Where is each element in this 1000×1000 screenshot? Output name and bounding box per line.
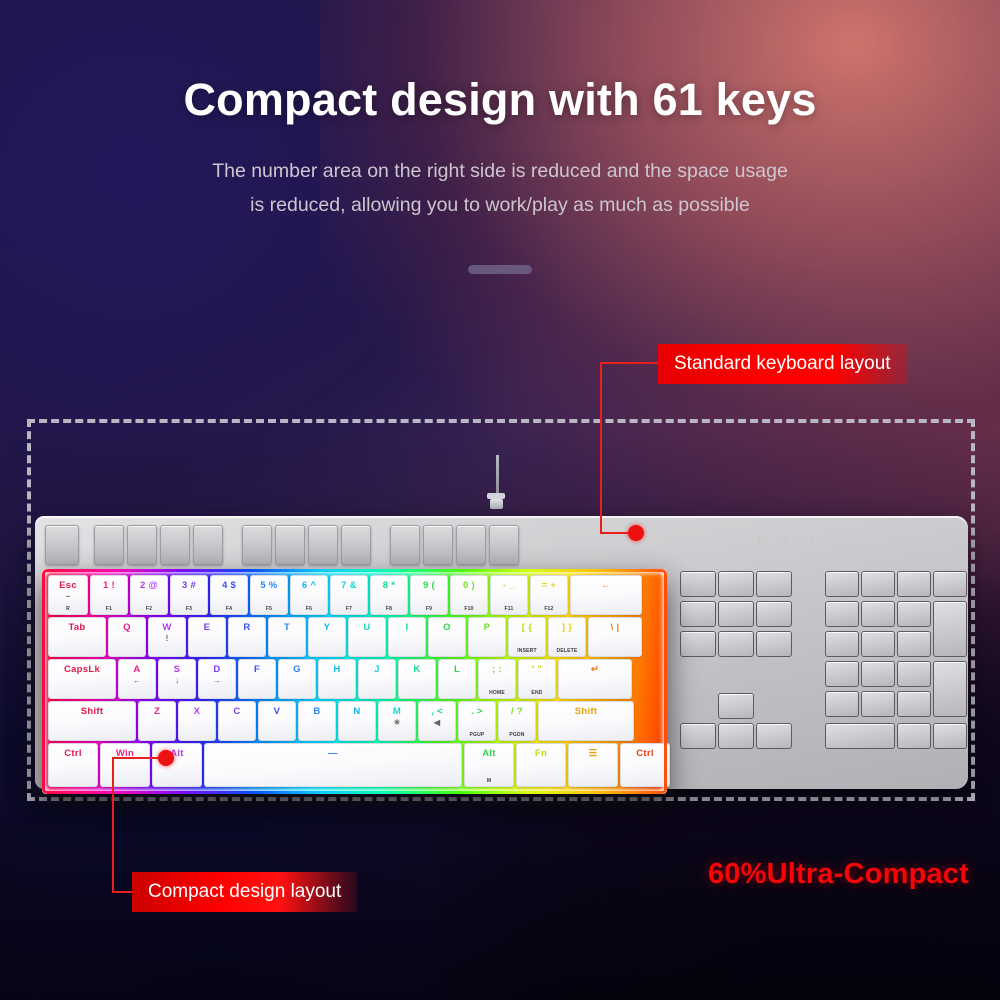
corner-tag-ultra-compact: 60%Ultra-Compact <box>708 858 969 891</box>
key-Alt[interactable]: Alt <box>152 743 202 787</box>
key-primary-legend: [ { <box>522 622 532 633</box>
key-primary-legend: 0 ) <box>463 580 475 591</box>
key-X[interactable]: X <box>178 701 216 741</box>
full-keyboard-numpad-key <box>933 661 967 717</box>
key-sub-legend: PGDN <box>509 732 524 738</box>
full-keyboard-nav-key <box>756 571 792 597</box>
key-Shift[interactable]: Shift <box>538 701 634 741</box>
key-primary-legend: Ctrl <box>64 748 82 759</box>
key-primary-legend: H <box>333 664 340 675</box>
key-secondary-legend: ↓ <box>175 676 179 686</box>
key-T[interactable]: T <box>268 617 306 657</box>
leader-line-top-h1 <box>600 362 660 364</box>
key-primary-legend: U <box>363 622 370 633</box>
full-keyboard-nav-key <box>680 601 716 627</box>
full-keyboard-numpad-key <box>825 571 859 597</box>
full-keyboard-numpad-key <box>825 631 859 657</box>
full-keyboard-fkey <box>160 525 190 565</box>
compact-60-keyboard: Esc~R1 !F12 @F23 #F34 $F45 %F56 ^F67 &F7… <box>42 569 667 794</box>
leader-line-top-v <box>600 362 602 534</box>
key-Ctrl[interactable]: Ctrl <box>620 743 670 787</box>
full-keyboard-numpad-key <box>861 661 895 687</box>
full-keyboard-nav-key <box>718 723 754 749</box>
key-primary-legend: 6 ^ <box>302 580 316 591</box>
full-keyboard-led-indicators <box>758 536 878 552</box>
key-U[interactable]: U <box>348 617 386 657</box>
key-R[interactable]: R <box>228 617 266 657</box>
key-A[interactable]: A← <box>118 659 156 699</box>
page-title: Compact design with 61 keys <box>0 74 1000 126</box>
key-[interactable]: ; :HOME <box>478 659 516 699</box>
full-keyboard-fkey <box>341 525 371 565</box>
full-keyboard-nav-key <box>718 631 754 657</box>
key-primary-legend: 4 $ <box>222 580 236 591</box>
key-sub-legend: F5 <box>266 606 272 612</box>
key-primary-legend: 5 % <box>260 580 277 591</box>
key-L[interactable]: L <box>438 659 476 699</box>
callout-dot-standard-layout[interactable] <box>628 525 644 541</box>
full-keyboard-numpad-key <box>825 723 895 749</box>
key-W[interactable]: W! <box>148 617 186 657</box>
key-sub-legend: INSERT <box>517 648 537 654</box>
key-Tab[interactable]: Tab <box>48 617 106 657</box>
full-keyboard-fkey <box>193 525 223 565</box>
key-primary-legend: L <box>454 664 460 675</box>
full-keyboard-fkey <box>489 525 519 565</box>
key-secondary-legend: → <box>213 676 221 686</box>
key-[interactable]: , <◀ <box>418 701 456 741</box>
full-keyboard-led <box>836 536 839 549</box>
key-[interactable]: ☰ <box>568 743 618 787</box>
key-primary-legend: C <box>233 706 240 717</box>
key-primary-legend: J <box>374 664 380 675</box>
full-keyboard-nav-key <box>680 571 716 597</box>
key-primary-legend: ] } <box>562 622 572 633</box>
key-primary-legend: ↵ <box>591 664 599 675</box>
key-sub-legend: F8 <box>386 606 392 612</box>
key-primary-legend: Y <box>324 622 331 633</box>
callout-standard-keyboard-layout[interactable]: Standard keyboard layout <box>658 344 907 384</box>
key-primary-legend: G <box>293 664 301 675</box>
key-primary-legend: Shift <box>575 706 598 717</box>
full-keyboard-fkey <box>275 525 305 565</box>
key-primary-legend: E <box>204 622 211 633</box>
key-C[interactable]: C <box>218 701 256 741</box>
page-subtitle: The number area on the right side is red… <box>0 154 1000 222</box>
key-primary-legend: F <box>254 664 260 675</box>
key-primary-legend: 9 ( <box>423 580 435 591</box>
full-keyboard-led <box>810 536 813 549</box>
usb-cable <box>494 455 501 507</box>
full-keyboard-numpad-key <box>933 571 967 597</box>
key-[interactable]: ' "END <box>518 659 556 699</box>
key-primary-legend: Fn <box>535 748 547 759</box>
full-keyboard-function-row <box>45 525 665 567</box>
key-primary-legend: V <box>274 706 281 717</box>
section-divider-pill <box>468 265 532 274</box>
key-5[interactable]: 5 %F5 <box>250 575 288 615</box>
key-[interactable]: / ?PGDN <box>498 701 536 741</box>
key-[interactable]: ↵ <box>558 659 632 699</box>
key-O[interactable]: O <box>428 617 466 657</box>
key-sub-legend: HOME <box>489 690 505 696</box>
full-keyboard-numpad-key <box>897 571 931 597</box>
full-keyboard-led <box>784 536 787 549</box>
key-primary-legend: Ctrl <box>636 748 654 759</box>
key-sub-legend: F1 <box>106 606 112 612</box>
key-primary-legend: ; : <box>492 664 502 675</box>
full-keyboard-numpad-key <box>897 601 931 627</box>
key-4[interactable]: 4 $F4 <box>210 575 248 615</box>
key-M[interactable]: M☀ <box>378 701 416 741</box>
key-sub-legend: M <box>487 778 491 784</box>
callout-compact-design-layout[interactable]: Compact design layout <box>132 872 357 912</box>
key-secondary-legend: ! <box>166 634 169 644</box>
key-primary-legend: S <box>174 664 181 675</box>
key-[interactable]: - _F11 <box>490 575 528 615</box>
full-keyboard-numpad-key <box>825 661 859 687</box>
keyboard-row-3: ShiftZXCVBNM☀, <◀. >PGUP/ ?PGDNShift <box>48 701 661 741</box>
key-primary-legend: M <box>393 706 401 717</box>
full-keyboard-nav-key <box>718 571 754 597</box>
key-primary-legend: , < <box>431 706 443 717</box>
key-primary-legend: Tab <box>68 622 85 633</box>
key-J[interactable]: J <box>358 659 396 699</box>
key-P[interactable]: P <box>468 617 506 657</box>
key-primary-legend: \ | <box>611 622 620 633</box>
key-Y[interactable]: Y <box>308 617 346 657</box>
key-0[interactable]: 0 )F10 <box>450 575 488 615</box>
full-keyboard-numpad-key <box>861 601 895 627</box>
key-primary-legend: Esc <box>59 580 77 591</box>
key-Alt[interactable]: AltM <box>464 743 514 787</box>
full-keyboard-numpad-key <box>861 691 895 717</box>
key-secondary-legend: ~ <box>66 592 71 602</box>
key-secondary-legend: ◀ <box>434 718 440 728</box>
key-8[interactable]: 8 *F8 <box>370 575 408 615</box>
full-keyboard-fkey <box>308 525 338 565</box>
key-CapsLk[interactable]: CapsLk <box>48 659 116 699</box>
key-sub-legend: DELETE <box>557 648 578 654</box>
key-primary-legend: R <box>243 622 250 633</box>
key-I[interactable]: I <box>388 617 426 657</box>
full-keyboard-fkey <box>127 525 157 565</box>
key-primary-legend: CapsLk <box>64 664 100 675</box>
key-N[interactable]: N <box>338 701 376 741</box>
key-primary-legend: ' " <box>532 664 542 675</box>
keyboard-row-1: TabQW!ERTYUIOP[ {INSERT] }DELETE\ | <box>48 617 661 657</box>
key-B[interactable]: B <box>298 701 336 741</box>
key-primary-legend: — <box>328 748 338 759</box>
full-keyboard-fkey <box>390 525 420 565</box>
key-sub-legend: F7 <box>346 606 352 612</box>
full-keyboard-nav-cluster <box>680 571 810 786</box>
key-primary-legend: 8 * <box>383 580 396 591</box>
full-keyboard-nav-key <box>756 601 792 627</box>
key-primary-legend: A <box>133 664 140 675</box>
key-primary-legend: ☰ <box>589 748 598 759</box>
key-primary-legend: X <box>194 706 201 717</box>
key-[interactable]: . >PGUP <box>458 701 496 741</box>
key-[interactable]: = +F12 <box>530 575 568 615</box>
key-primary-legend: N <box>353 706 360 717</box>
key-primary-legend: 7 & <box>341 580 357 591</box>
key-primary-legend: Shift <box>81 706 104 717</box>
key-primary-legend: T <box>284 622 290 633</box>
full-keyboard-numpad-key <box>933 601 967 657</box>
key-[interactable]: \ | <box>588 617 642 657</box>
key-Shift[interactable]: Shift <box>48 701 136 741</box>
key-Z[interactable]: Z <box>138 701 176 741</box>
key-Win[interactable]: Win <box>100 743 150 787</box>
key-primary-legend: ← <box>601 580 611 591</box>
key-H[interactable]: H <box>318 659 356 699</box>
key-[interactable]: ] }DELETE <box>548 617 586 657</box>
keyboard-row-2: CapsLkA←S↓D→FGHJKL; :HOME' "END↵ <box>48 659 661 699</box>
key-primary-legend: 1 ! <box>103 580 115 591</box>
key-Q[interactable]: Q <box>108 617 146 657</box>
key-sub-legend: F10 <box>464 606 473 612</box>
cable-plug-lower <box>490 499 503 509</box>
key-primary-legend: W <box>162 622 171 633</box>
full-keyboard-fkey <box>456 525 486 565</box>
full-keyboard-numpad-key <box>825 691 859 717</box>
key-secondary-legend: ☀ <box>393 718 400 728</box>
full-keyboard-numpad-key <box>861 631 895 657</box>
full-keyboard-numpad-key <box>897 631 931 657</box>
key-V[interactable]: V <box>258 701 296 741</box>
full-keyboard-nav-key <box>756 723 792 749</box>
keyboard-row-4: CtrlWinAlt—AltMFn☰Ctrl <box>48 743 661 787</box>
full-keyboard-numpad-key <box>897 691 931 717</box>
key-E[interactable]: E <box>188 617 226 657</box>
key-primary-legend: K <box>413 664 420 675</box>
header-block: Compact design with 61 keys The number a… <box>0 74 1000 222</box>
key-primary-legend: D <box>213 664 220 675</box>
key-sub-legend: F9 <box>426 606 432 612</box>
key-sub-legend: R <box>66 606 70 612</box>
key-9[interactable]: 9 (F9 <box>410 575 448 615</box>
full-keyboard-numpad-key <box>897 723 931 749</box>
key-F[interactable]: F <box>238 659 276 699</box>
key-Ctrl[interactable]: Ctrl <box>48 743 98 787</box>
full-keyboard-numpad-key <box>933 723 967 749</box>
full-keyboard-numpad-key <box>825 601 859 627</box>
key-primary-legend: 3 # <box>182 580 196 591</box>
key-primary-legend: Q <box>123 622 131 633</box>
full-keyboard-fkey <box>45 525 79 565</box>
key-Esc[interactable]: Esc~R <box>48 575 88 615</box>
full-keyboard-numpad-key <box>861 571 895 597</box>
key-[interactable]: ← <box>570 575 642 615</box>
key-sub-legend: PGUP <box>470 732 485 738</box>
subtitle-line-2: is reduced, allowing you to work/play as… <box>0 188 1000 222</box>
full-keyboard-fkey <box>423 525 453 565</box>
key-7[interactable]: 7 &F7 <box>330 575 368 615</box>
key-sub-legend: F6 <box>306 606 312 612</box>
key-primary-legend: . > <box>471 706 483 717</box>
full-keyboard-nav-key <box>718 601 754 627</box>
key-[interactable]: [ {INSERT <box>508 617 546 657</box>
key-primary-legend: Alt <box>482 748 496 759</box>
full-keyboard-numpad-key <box>897 661 931 687</box>
key-sub-legend: F11 <box>505 606 514 612</box>
key-D[interactable]: D→ <box>198 659 236 699</box>
key-3[interactable]: 3 #F3 <box>170 575 208 615</box>
full-keyboard-fkey <box>242 525 272 565</box>
full-keyboard-led <box>758 536 761 549</box>
key-primary-legend: I <box>406 622 409 633</box>
callout-dot-compact-layout[interactable] <box>158 750 174 766</box>
key-sub-legend: F2 <box>146 606 152 612</box>
cable-wire <box>496 455 499 497</box>
keyboard-row-0: Esc~R1 !F12 @F23 #F34 $F45 %F56 ^F67 &F7… <box>48 575 661 615</box>
key-[interactable]: — <box>204 743 462 787</box>
key-sub-legend: F4 <box>226 606 232 612</box>
key-primary-legend: 2 @ <box>140 580 158 591</box>
leader-line-bottom-v <box>112 757 114 893</box>
full-keyboard-fkey <box>94 525 124 565</box>
key-sub-legend: END <box>531 690 542 696</box>
key-S[interactable]: S↓ <box>158 659 196 699</box>
key-primary-legend: O <box>443 622 451 633</box>
key-1[interactable]: 1 !F1 <box>90 575 128 615</box>
key-2[interactable]: 2 @F2 <box>130 575 168 615</box>
key-sub-legend: F12 <box>544 606 553 612</box>
key-6[interactable]: 6 ^F6 <box>290 575 328 615</box>
key-primary-legend: - _ <box>503 580 515 591</box>
key-primary-legend: B <box>313 706 320 717</box>
key-sub-legend: F3 <box>186 606 192 612</box>
full-keyboard-nav-key <box>680 631 716 657</box>
key-primary-legend: / ? <box>511 706 523 717</box>
full-keyboard-numpad <box>825 571 990 786</box>
key-secondary-legend: ← <box>133 676 141 686</box>
key-K[interactable]: K <box>398 659 436 699</box>
key-Fn[interactable]: Fn <box>516 743 566 787</box>
key-G[interactable]: G <box>278 659 316 699</box>
key-primary-legend: Z <box>154 706 160 717</box>
full-keyboard-nav-key <box>680 723 716 749</box>
key-primary-legend: = + <box>542 580 557 591</box>
key-primary-legend: P <box>484 622 491 633</box>
subtitle-line-1: The number area on the right side is red… <box>0 154 1000 188</box>
full-keyboard-nav-key <box>756 631 792 657</box>
full-keyboard-nav-key <box>718 693 754 719</box>
